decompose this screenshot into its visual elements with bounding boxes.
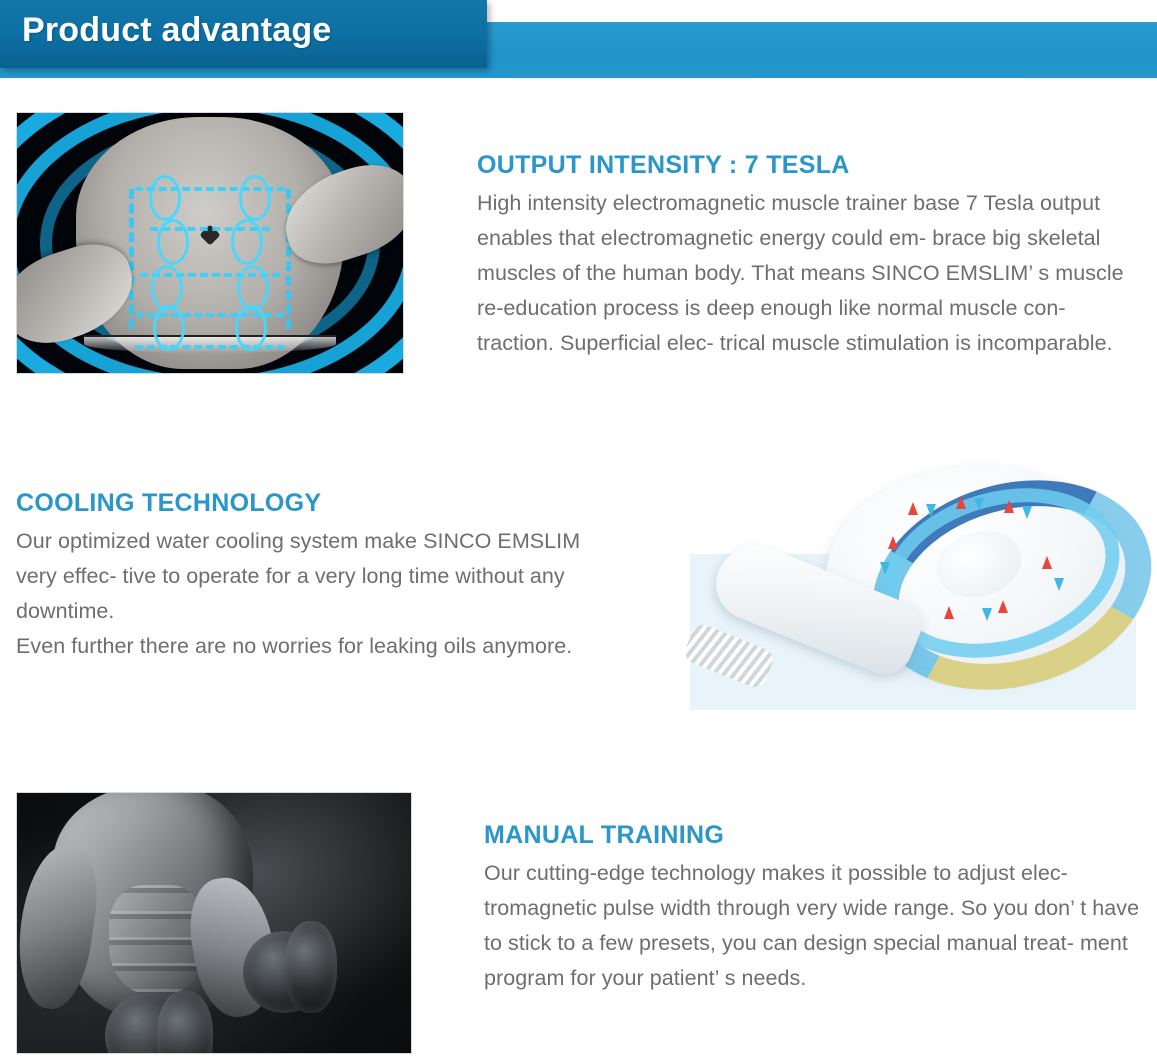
abdomen-illustration [17,113,403,373]
pulse-arc-icon [231,219,263,265]
pulse-arc-icon [149,175,181,221]
pulse-arc-icon [239,175,271,221]
page-title: Product advantage [22,11,331,50]
cooling-technology-image [690,554,1136,710]
heat-arrow-up-icon [998,600,1008,613]
output-intensity-image [16,112,404,374]
heat-arrow-up-icon [888,536,898,549]
heat-arrow-up-icon [956,496,966,509]
heat-arrow-up-icon [908,502,918,515]
cool-arrow-down-icon [974,498,984,511]
cool-arrow-down-icon [926,504,936,517]
pulse-arc-icon [153,305,185,351]
cool-arrow-down-icon [982,608,992,621]
gym-background [17,793,411,1053]
heat-arrow-up-icon [1042,556,1052,569]
applicator-cable [682,621,777,690]
cooling-technology-body: Our optimized water cooling system make … [16,524,616,664]
manual-training-body: Our cutting-edge technology makes it pos… [484,856,1144,996]
pulse-arc-icon [237,265,269,311]
heat-arrow-up-icon [1004,500,1014,513]
cooling-technology-heading: COOLING TECHNOLOGY [16,490,616,518]
manual-training-heading: MANUAL TRAINING [484,822,1144,850]
cooling-technology-text: COOLING TECHNOLOGY Our optimized water c… [16,490,616,664]
cool-arrow-down-icon [1054,578,1064,591]
manual-training-text: MANUAL TRAINING Our cutting-edge technol… [484,822,1144,996]
cooling-technology-paragraph-2: Even further there are no worries for le… [16,629,616,664]
applicator-illustration [698,458,1138,718]
cooling-technology-paragraph-1: Our optimized water cooling system make … [16,524,616,629]
dumbbell-right-plate [285,921,337,1013]
manual-training-image [16,792,412,1054]
muscle-dash-line [135,345,285,349]
pulse-arc-icon [157,219,189,265]
output-intensity-text: OUTPUT INTENSITY : 7 TESLA High intensit… [477,152,1145,361]
cool-arrow-down-icon [1022,506,1032,519]
pulse-arc-icon [235,305,267,351]
muscle-dash-line-vertical [129,189,134,329]
page-header: Product advantage [0,0,1157,80]
output-intensity-body: High intensity electromagnetic muscle tr… [477,186,1145,361]
output-intensity-heading: OUTPUT INTENSITY : 7 TESLA [477,152,1145,180]
heat-arrow-up-icon [944,606,954,619]
cool-arrow-down-icon [880,562,890,575]
